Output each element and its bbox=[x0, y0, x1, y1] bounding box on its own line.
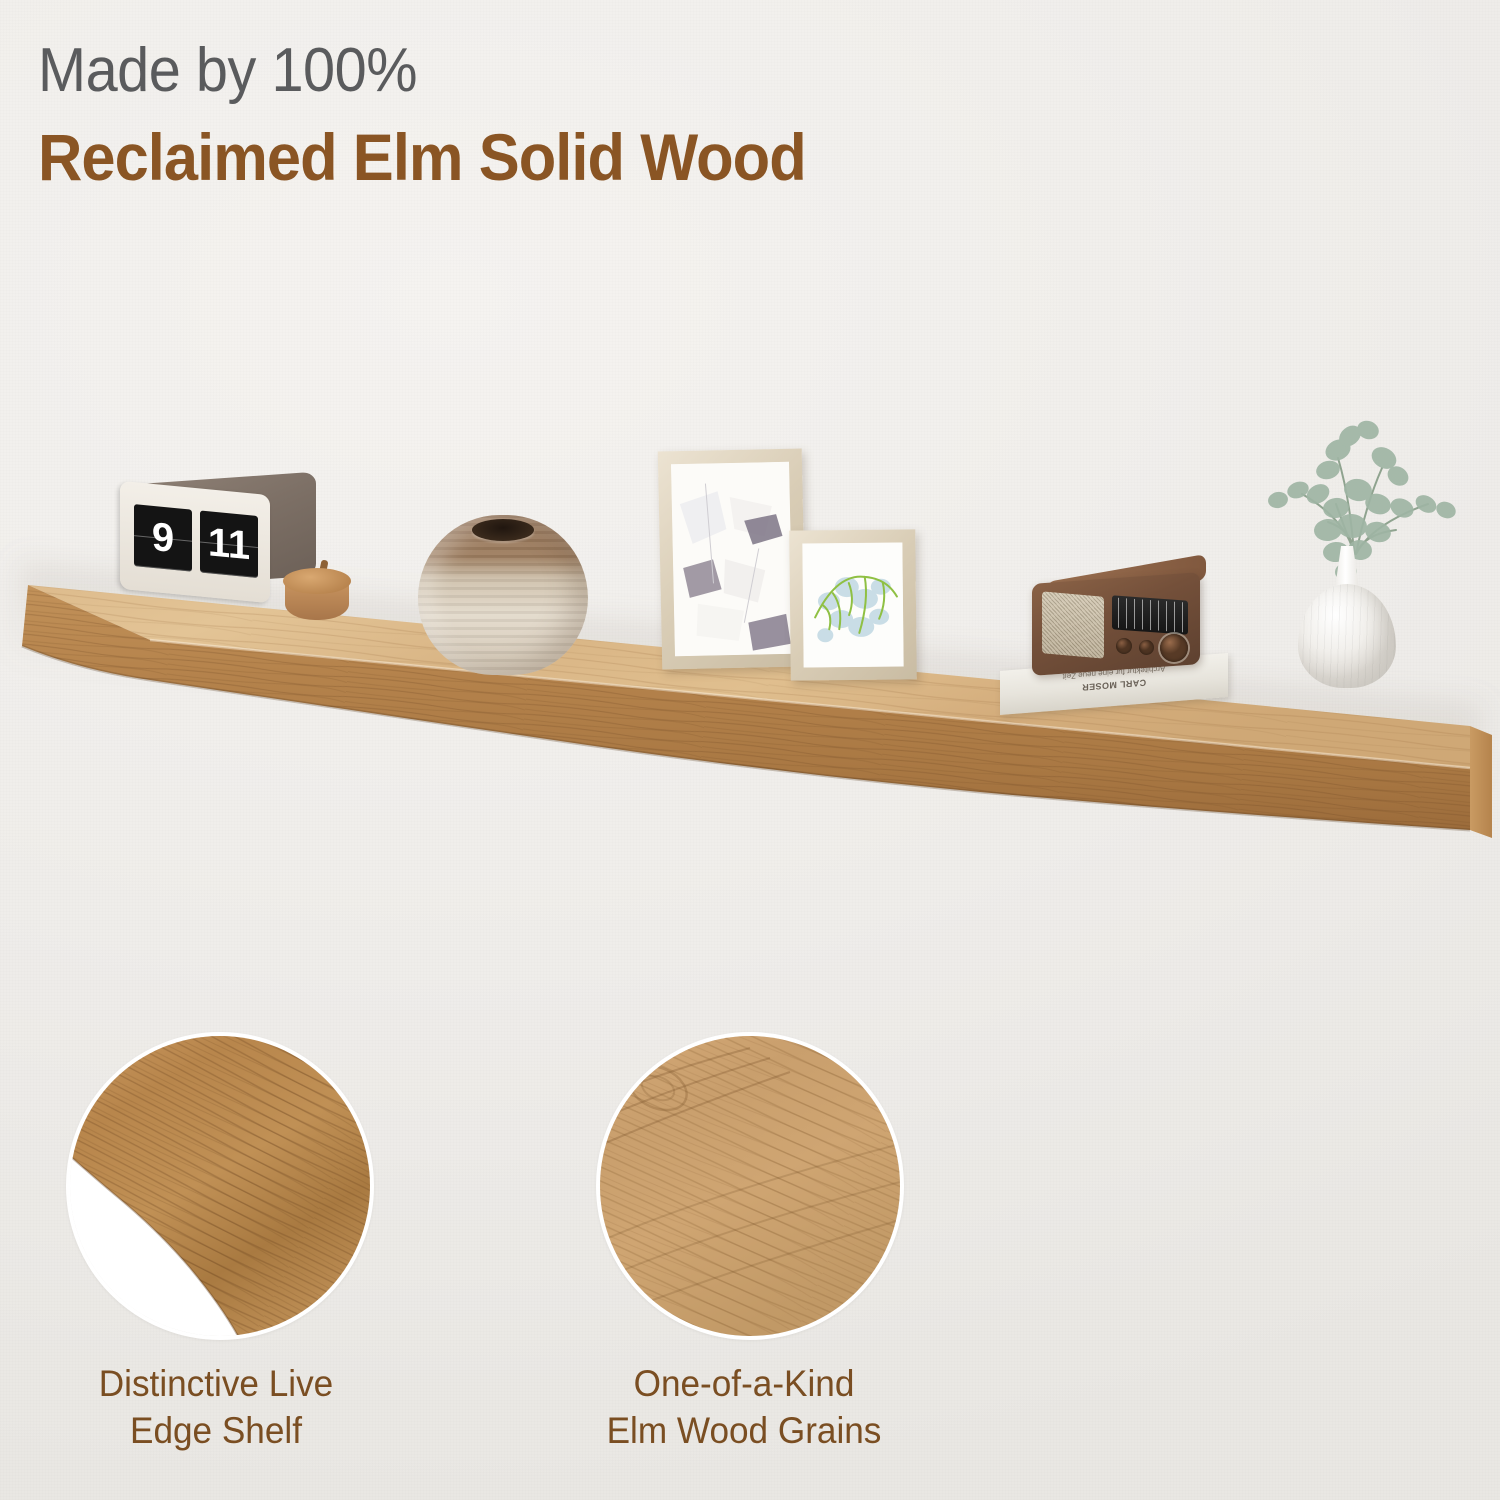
white-vase-body bbox=[1298, 584, 1396, 688]
radio-knob-volume bbox=[1116, 638, 1132, 654]
picture-frame-small-border bbox=[789, 529, 917, 680]
feature-caption-live-edge: Distinctive Live Edge Shelf bbox=[17, 1360, 416, 1455]
wooden-lidded-box bbox=[283, 560, 351, 622]
feature-caption-wood-grain: One-of-a-Kind Elm Wood Grains bbox=[545, 1360, 944, 1455]
flip-clock-hour: 9 bbox=[134, 504, 192, 572]
caption-line-2: Elm Wood Grains bbox=[545, 1407, 944, 1454]
radio-knob-tuning bbox=[1160, 634, 1188, 662]
radio-speaker-grille bbox=[1042, 591, 1104, 658]
radio-knob-tone bbox=[1139, 640, 1154, 655]
radio-tuning-dial bbox=[1112, 595, 1188, 634]
product-feature-page: Made by 100% Reclaimed Elm Solid Wood bbox=[0, 0, 1500, 1500]
feature-details: Distinctive Live Edge Shelf One-of-a-Kin… bbox=[0, 1020, 1500, 1500]
artwork-abstract bbox=[671, 462, 793, 656]
white-vase bbox=[1298, 546, 1396, 688]
ceramic-vase-opening bbox=[472, 519, 534, 541]
headline-line-2: Reclaimed Elm Solid Wood bbox=[38, 124, 806, 190]
picture-frame-large-border bbox=[658, 449, 807, 670]
caption-line-1: Distinctive Live bbox=[17, 1360, 416, 1407]
vintage-radio bbox=[1032, 568, 1214, 672]
headline-block: Made by 100% Reclaimed Elm Solid Wood bbox=[38, 40, 864, 190]
picture-frame-small bbox=[789, 529, 917, 680]
hero-scene: 9 11 bbox=[0, 300, 1500, 1040]
eucalyptus-arrangement bbox=[1232, 318, 1482, 718]
flip-clock-minute: 11 bbox=[200, 510, 258, 578]
caption-line-1: One-of-a-Kind bbox=[545, 1360, 944, 1407]
ceramic-vase bbox=[418, 515, 588, 675]
feature-image-live-edge bbox=[66, 1032, 374, 1340]
artwork-botanical bbox=[802, 542, 903, 667]
feature-image-wood-grain bbox=[596, 1032, 904, 1340]
caption-line-2: Edge Shelf bbox=[17, 1407, 416, 1454]
picture-frame-large bbox=[658, 449, 807, 670]
wooden-box-lid bbox=[283, 568, 351, 594]
headline-line-1: Made by 100% bbox=[38, 40, 806, 102]
flip-clock-face: 9 11 bbox=[120, 481, 270, 603]
